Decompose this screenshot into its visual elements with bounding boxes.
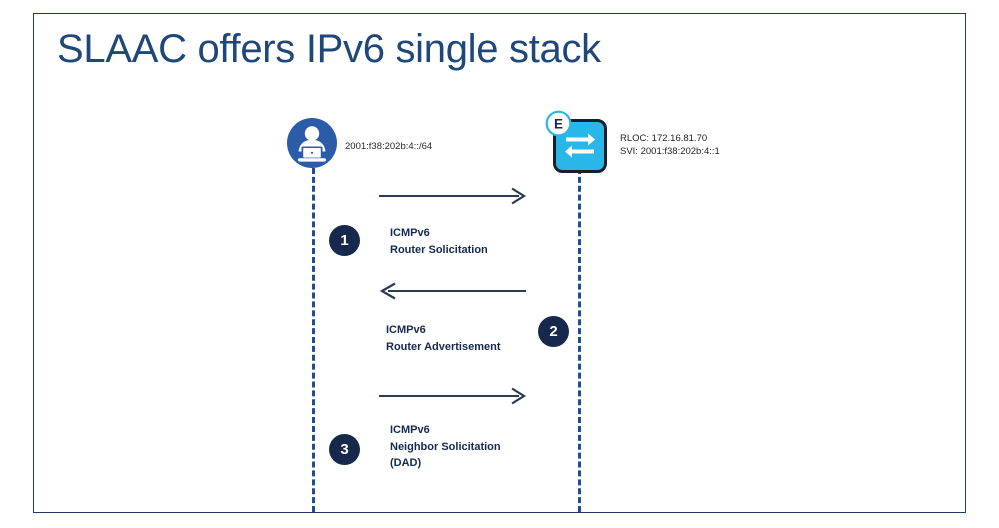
message-arrow-2 [376, 282, 531, 305]
message-arrow-1 [378, 187, 530, 210]
switch-role-badge: E [545, 110, 572, 137]
lifeline-host [312, 168, 315, 512]
step-label-1: ICMPv6 Router Solicitation [390, 225, 488, 258]
switch-svi-label: SVI: 2001:f38:202b:4::1 [620, 145, 720, 158]
step-1-message: Router Solicitation [390, 242, 488, 259]
user-laptop-icon [286, 117, 338, 169]
svg-text:E: E [554, 116, 563, 131]
step-3-message: Neighbor Solicitation [390, 439, 501, 456]
page-title: SLAAC offers IPv6 single stack [57, 27, 601, 71]
step-1-protocol: ICMPv6 [390, 225, 488, 242]
step-label-2: ICMPv6 Router Advertisement [386, 322, 501, 355]
lifeline-switch [578, 168, 581, 512]
step-badge-3: 3 [329, 434, 360, 465]
step-3-protocol: ICMPv6 [390, 422, 501, 439]
host-address-label: 2001:f38:202b:4::/64 [345, 141, 432, 152]
switch-address-label: RLOC: 172.16.81.70 SVI: 2001:f38:202b:4:… [620, 132, 720, 158]
step-badge-1: 1 [329, 225, 360, 256]
switch-rloc-label: RLOC: 172.16.81.70 [620, 132, 720, 145]
step-badge-2: 2 [538, 316, 569, 347]
step-3-extra: (DAD) [390, 455, 501, 472]
message-arrow-3 [378, 387, 530, 410]
step-label-3: ICMPv6 Neighbor Solicitation (DAD) [390, 422, 501, 472]
slide-canvas: SLAAC offers IPv6 single stack 2001:f38:… [0, 0, 999, 528]
step-2-message: Router Advertisement [386, 339, 501, 356]
step-2-protocol: ICMPv6 [386, 322, 501, 339]
